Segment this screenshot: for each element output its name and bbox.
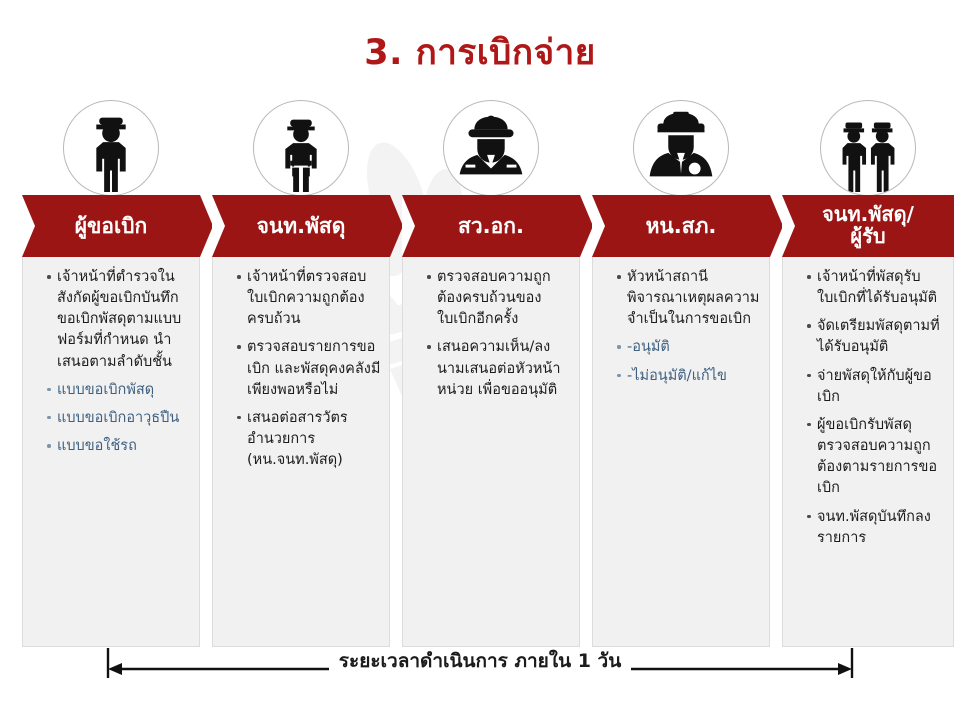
process-columns: ผู้ขอเบิก เจ้าหน้าที่ตำรวจในสังกัดผู้ขอเ… [0, 100, 960, 630]
list-item: หัวหน้าสถานีพิจารณาเหตุผลความจำเป็นในการ… [617, 267, 761, 330]
banner-left-notch [402, 195, 415, 257]
list-item: จนท.พัสดุบันทึกลงรายการ [807, 507, 945, 549]
list-item: จัดเตรียมพัสดุตามที่ได้รับอนุมัติ [807, 316, 945, 358]
step-4-header-label: หน.สภ. [646, 215, 717, 238]
step-4-icon-wrap [592, 100, 770, 196]
list-item: ตรวจสอบรายการขอเบิก และพัสดุคงคลังมีเพีย… [237, 337, 381, 400]
step-5-panel: เจ้าหน้าที่พัสดุรับใบเบิกที่ได้รับอนุมัต… [782, 257, 954, 647]
two-police-officers-icon [820, 100, 916, 196]
list-item: ผู้ขอเบิกรับพัสดุตรวจสอบความถูกต้องตามรา… [807, 415, 945, 500]
step-3-icon-wrap [402, 100, 580, 196]
police-chief-bust-icon [633, 100, 729, 196]
step-3-panel: ตรวจสอบความถูกต้องครบถ้วนของใบเบิกอีกครั… [402, 257, 580, 647]
banner-left-notch [22, 195, 35, 257]
process-step-2: จนท.พัสดุ เจ้าหน้าที่ตรวจสอบใบเบิกความถู… [212, 100, 390, 647]
police-officer-uniform-icon [253, 100, 349, 196]
list-item[interactable]: แบบขอเบิกพัสดุ [47, 380, 191, 401]
list-item: เจ้าหน้าที่ตรวจสอบใบเบิกความถูกต้องครบถ้… [237, 267, 381, 330]
police-officer-full-body-icon [63, 100, 159, 196]
step-5-header-label: จนท.พัสดุ/ ผู้รับ [822, 204, 914, 247]
step-1-icon-wrap [22, 100, 200, 196]
list-item[interactable]: แบบขอเบิกอาวุธปืน [47, 408, 191, 429]
banner-left-notch [592, 195, 605, 257]
step-1-header-banner: ผู้ขอเบิก [22, 195, 200, 257]
duration-timeline: ระยะเวลาดำเนินการ ภายใน 1 วัน [0, 640, 960, 700]
step-1-header-label: ผู้ขอเบิก [75, 215, 148, 238]
list-item[interactable]: -อนุมัติ [617, 337, 761, 358]
list-item: เจ้าหน้าที่พัสดุรับใบเบิกที่ได้รับอนุมัต… [807, 267, 945, 309]
step-2-header-banner: จนท.พัสดุ [212, 195, 390, 257]
list-item[interactable]: แบบขอใช้รถ [47, 436, 191, 457]
process-step-4: หน.สภ. หัวหน้าสถานีพิจารณาเหตุผลความจำเป… [592, 100, 770, 647]
step-5-header-banner: จนท.พัสดุ/ ผู้รับ [782, 195, 954, 257]
step-5-icon-wrap [782, 100, 954, 196]
process-step-1: ผู้ขอเบิก เจ้าหน้าที่ตำรวจในสังกัดผู้ขอเ… [22, 100, 200, 647]
step-4-bullet-list: หัวหน้าสถานีพิจารณาเหตุผลความจำเป็นในการ… [597, 267, 761, 387]
process-step-3: สว.อก. ตรวจสอบความถูกต้องครบถ้วนของใบเบิ… [402, 100, 580, 647]
step-5-header-line-2: ผู้รับ [822, 226, 914, 248]
police-officer-bust-icon [443, 100, 539, 196]
list-item: จ่ายพัสดุให้กับผู้ขอเบิก [807, 366, 945, 408]
step-1-panel: เจ้าหน้าที่ตำรวจในสังกัดผู้ขอเบิกบันทึกข… [22, 257, 200, 647]
banner-left-notch [782, 195, 795, 257]
duration-label-text: ระยะเวลาดำเนินการ ภายใน 1 วัน [329, 650, 631, 672]
step-4-header-banner: หน.สภ. [592, 195, 770, 257]
process-step-5: จนท.พัสดุ/ ผู้รับ เจ้าหน้าที่พัสดุรับใบเ… [782, 100, 954, 647]
step-2-icon-wrap [212, 100, 390, 196]
step-3-header-banner: สว.อก. [402, 195, 580, 257]
list-item: เสนอความเห็น/ลงนามเสนอต่อหัวหน้าหน่วย เพ… [427, 337, 571, 400]
step-1-bullet-list: เจ้าหน้าที่ตำรวจในสังกัดผู้ขอเบิกบันทึกข… [27, 267, 191, 457]
step-2-header-label: จนท.พัสดุ [257, 215, 346, 238]
list-item: ตรวจสอบความถูกต้องครบถ้วนของใบเบิกอีกครั… [427, 267, 571, 330]
step-5-header-line-1: จนท.พัสดุ/ [822, 204, 914, 226]
step-3-bullet-list: ตรวจสอบความถูกต้องครบถ้วนของใบเบิกอีกครั… [407, 267, 571, 401]
page-title: 3. การเบิกจ่าย [0, 34, 960, 73]
banner-left-notch [212, 195, 225, 257]
list-item[interactable]: -ไม่อนุมัติ/แก้ไข [617, 366, 761, 387]
step-4-panel: หัวหน้าสถานีพิจารณาเหตุผลความจำเป็นในการ… [592, 257, 770, 647]
step-3-header-label: สว.อก. [458, 215, 524, 238]
step-2-panel: เจ้าหน้าที่ตรวจสอบใบเบิกความถูกต้องครบถ้… [212, 257, 390, 647]
step-2-bullet-list: เจ้าหน้าที่ตรวจสอบใบเบิกความถูกต้องครบถ้… [217, 267, 381, 471]
slide-canvas: 3. การเบิกจ่าย [0, 0, 960, 720]
list-item: เสนอต่อสารวัตรอำนวยการ (หน.จนท.พัสดุ) [237, 408, 381, 471]
step-5-bullet-list: เจ้าหน้าที่พัสดุรับใบเบิกที่ได้รับอนุมัต… [787, 267, 945, 549]
list-item: เจ้าหน้าที่ตำรวจในสังกัดผู้ขอเบิกบันทึกข… [47, 267, 191, 373]
duration-label: ระยะเวลาดำเนินการ ภายใน 1 วัน [0, 646, 960, 676]
